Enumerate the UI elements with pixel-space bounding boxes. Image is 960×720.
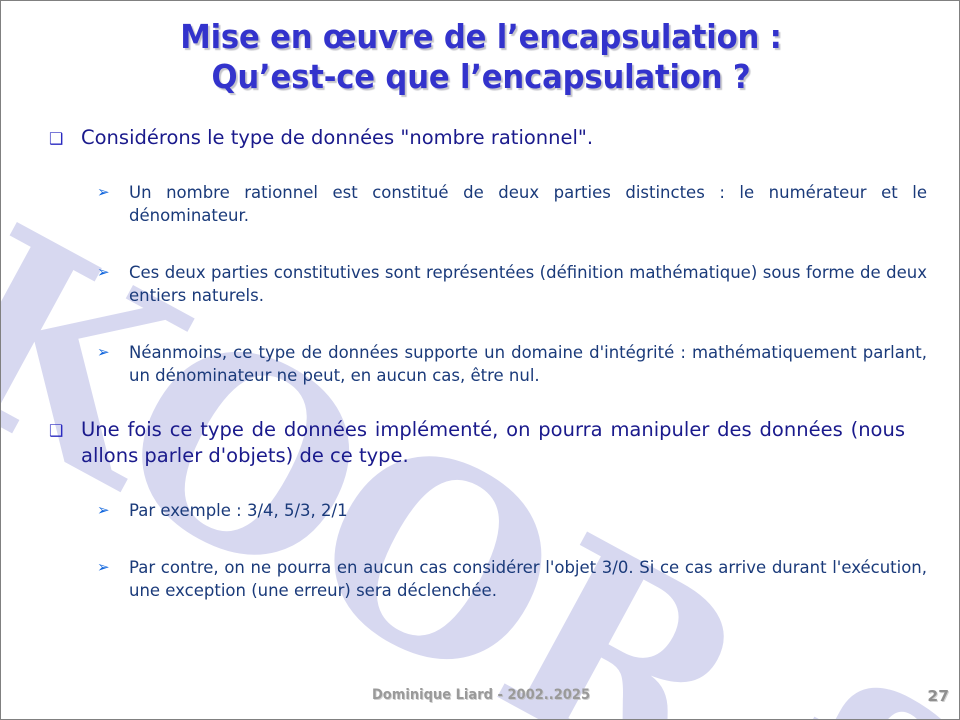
spacer	[1, 469, 960, 499]
spacer	[1, 307, 960, 341]
footer-page-number: 27	[927, 687, 949, 705]
arrow-bullet-icon: ➢	[97, 499, 110, 522]
arrow-bullet-icon: ➢	[97, 341, 110, 364]
bullet-level2-integrite: ➢ Néanmoins, ce type de données supporte…	[95, 341, 927, 387]
bullet-text: Une fois ce type de données implémenté, …	[81, 418, 905, 467]
title-line-2: Qu’est-ce que l’encapsulation ?	[35, 57, 928, 97]
slide-footer: Dominique Liard - 2002..2025 27	[1, 687, 960, 709]
bullet-level2-par-exemple: ➢ Par exemple : 3/4, 5/3, 2/1	[95, 499, 927, 522]
arrow-bullet-icon: ➢	[97, 556, 110, 579]
arrow-bullet-icon: ➢	[97, 261, 110, 284]
footer-credit: Dominique Liard - 2002..2025	[49, 687, 913, 703]
bullet-text: Ces deux parties constitutives sont repr…	[129, 263, 927, 305]
bullet-text: Par exemple : 3/4, 5/3, 2/1	[129, 501, 348, 520]
square-bullet-icon: ❑	[49, 418, 63, 444]
slide-body: ❑ Considérons le type de données "nombre…	[1, 125, 960, 602]
spacer	[1, 387, 960, 417]
slide-title: Mise en œuvre de l’encapsulation : Qu’es…	[1, 17, 960, 97]
spacer	[1, 151, 960, 181]
bullet-level1-implemente: ❑ Une fois ce type de données implémenté…	[45, 417, 905, 469]
bullet-level1-considerons: ❑ Considérons le type de données "nombre…	[45, 125, 905, 151]
bullet-text: Considérons le type de données "nombre r…	[81, 126, 593, 149]
bullet-level2-par-contre: ➢ Par contre, on ne pourra en aucun cas …	[95, 556, 927, 602]
spacer	[1, 522, 960, 556]
square-bullet-icon: ❑	[49, 126, 63, 152]
bullet-level2-representees: ➢ Ces deux parties constitutives sont re…	[95, 261, 927, 307]
arrow-bullet-icon: ➢	[97, 181, 110, 204]
bullet-text: Un nombre rationnel est constitué de deu…	[129, 183, 927, 225]
slide-canvas: KOOR.fr Mise en œuvre de l’encapsulation…	[0, 0, 960, 720]
bullet-text: Par contre, on ne pourra en aucun cas co…	[129, 558, 927, 600]
bullet-level2-numerateur: ➢ Un nombre rationnel est constitué de d…	[95, 181, 927, 227]
title-line-1: Mise en œuvre de l’encapsulation :	[35, 17, 928, 57]
spacer	[1, 227, 960, 261]
bullet-text: Néanmoins, ce type de données supporte u…	[129, 343, 927, 385]
